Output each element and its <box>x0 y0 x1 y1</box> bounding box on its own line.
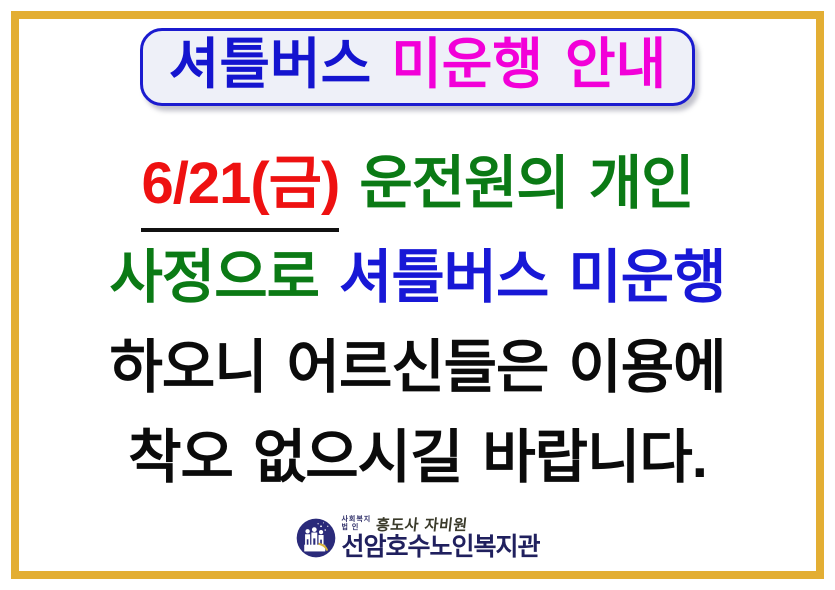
organization-logo-block: 사회복지 법 인 흥도사 자비원 선암호수노인복지관 <box>0 515 835 560</box>
notice-line-2: 사정으로셔틀버스미운행 <box>30 234 805 322</box>
notice-line1-word-driver: 운전원의 <box>359 140 568 228</box>
notice-poster: 셔틀버스 미운행 안내 6/21(금)운전원의개인 사정으로셔틀버스미운행 하오… <box>0 0 835 590</box>
notice-line4-word-2: 없으시길 <box>253 414 462 502</box>
logo-corp-line-2: 법 인 <box>341 524 371 532</box>
notice-line3-word-3: 이용에 <box>568 324 725 412</box>
notice-line2-word-reason: 사정으로 <box>110 234 319 322</box>
notice-line3-word-2: 어르신들은 <box>287 324 549 412</box>
notice-line2-word-shuttle-bus: 셔틀버스 <box>339 234 548 322</box>
title-part-shuttle-bus: 셔틀버스 <box>169 36 371 94</box>
logo-top-row: 사회복지 법 인 흥도사 자비원 <box>341 515 539 533</box>
title-banner-box: 셔틀버스 미운행 안내 <box>140 28 695 106</box>
notice-line1-word-personal: 개인 <box>589 140 694 228</box>
title-part-notice: 안내 <box>565 36 666 94</box>
notice-line4-word-3: 바랍니다. <box>482 414 707 502</box>
notice-line3-word-1: 하오니 <box>110 324 267 412</box>
notice-date: 6/21(금) <box>141 140 339 232</box>
logo-center-name: 선암호수노인복지관 <box>341 534 539 560</box>
notice-line4-word-1: 착오 <box>128 414 233 502</box>
title-part-no-service: 미운행 <box>391 36 543 94</box>
welfare-center-logo-icon <box>295 517 337 559</box>
logo-foundation-name: 흥도사 자비원 <box>375 518 468 533</box>
notice-line2-word-no-service: 미운행 <box>568 234 725 322</box>
title-banner-area: 셔틀버스 미운행 안내 <box>0 28 835 106</box>
notice-line-4: 착오없으시길바랍니다. <box>30 414 805 502</box>
notice-line-1: 6/21(금)운전원의개인 <box>30 140 805 232</box>
notice-body: 6/21(금)운전원의개인 사정으로셔틀버스미운행 하오니어르신들은이용에 착오… <box>30 140 805 502</box>
notice-line-3: 하오니어르신들은이용에 <box>30 324 805 412</box>
logo-text-block: 사회복지 법 인 흥도사 자비원 선암호수노인복지관 <box>341 515 539 560</box>
logo-corp-line-1: 사회복지 <box>341 516 371 524</box>
logo-corporate-prefix: 사회복지 법 인 <box>341 516 371 533</box>
